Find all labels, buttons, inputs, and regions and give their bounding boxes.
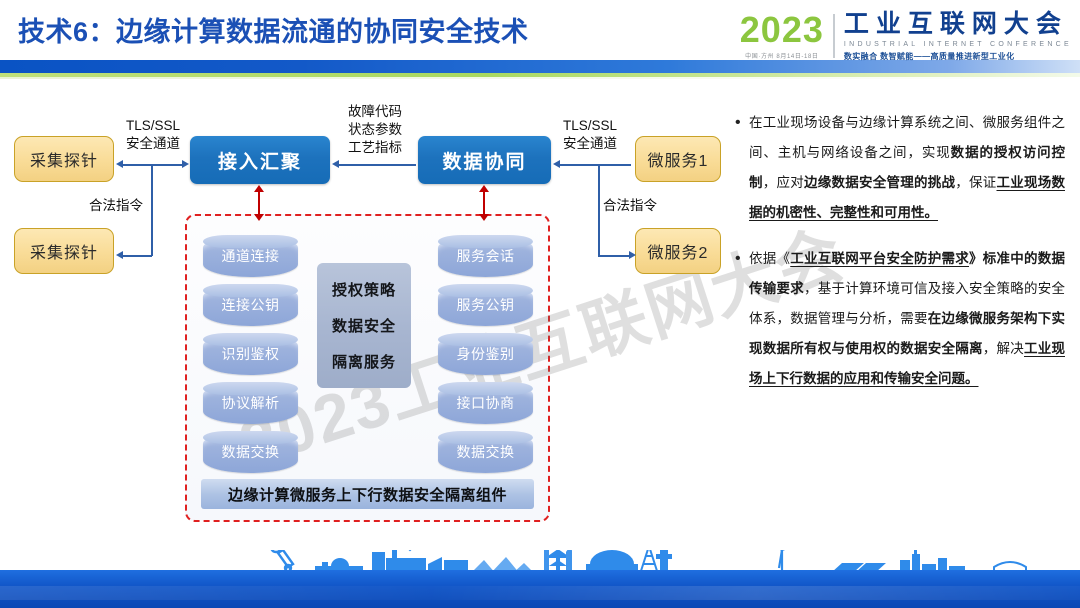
label-right-secure-channel-line2: 安全通道 [553,136,627,153]
isolation-component-bar-label: 边缘计算微服务上下行数据安全隔离组件 [228,484,507,505]
conference-logo: 2023 中国·方州 8月14日-18日 工业互联网大会 INDUSTRIAL … [740,12,1072,62]
connector-access-isolation [258,191,260,216]
connector-collab-ms1 [559,164,631,166]
cylinder-right-4[interactable]: 接口协商 [438,382,533,424]
slide: 技术6：边缘计算数据流通的协同安全技术 2023 中国·方州 8月14日-18日… [0,0,1080,608]
arrow-to-access-from-collab [332,160,339,168]
cylinder-left-5[interactable]: 数据交换 [203,431,298,473]
slide-header: 技术6：边缘计算数据流通的协同安全技术 2023 中国·方州 8月14日-18日… [0,0,1080,92]
arrow-down-isolation-left [254,214,264,221]
logo-year: 2023 [740,12,824,48]
arrow-down-isolation-right [479,214,489,221]
connector-ms2-line [598,255,631,257]
node-microservice-1-label: 微服务1 [648,147,709,171]
connector-collab-access [338,164,416,166]
cylinder-left-1-label: 通道连接 [222,246,280,266]
arrow-to-collab-from-ms1 [553,160,560,168]
cylinder-right-3-label: 身份鉴别 [457,344,515,364]
arrow-to-probe1 [116,160,123,168]
label-fault-code: 故障代码 [330,104,420,121]
node-access-aggregation-label: 接入汇聚 [218,147,302,174]
cylinder-right-2-label: 服务公钥 [457,295,515,315]
cylinder-left-5-label: 数据交换 [222,442,280,462]
center-security-services[interactable]: 授权策略 数据安全 隔离服务 [317,263,411,388]
cylinder-left-4[interactable]: 协议解析 [203,382,298,424]
isolation-component-bar[interactable]: 边缘计算微服务上下行数据安全隔离组件 [201,479,534,509]
logo-tagline: 数实融合 数智赋能——高质量推进新型工业化 [844,51,1072,62]
node-collection-probe-2-label: 采集探针 [30,239,98,263]
bullet-item-2: • 依据《工业互联网平台安全防护需求》标准中的数据传输要求，基于计算环境可信及接… [735,244,1065,394]
center-service-1: 授权策略 [332,279,396,300]
label-left-legal-command: 合法指令 [71,198,161,215]
logo-separator [833,14,835,58]
bullet-text-2: 依据《工业互联网平台安全防护需求》标准中的数据传输要求，基于计算环境可信及接入安… [749,244,1065,394]
cylinder-right-1[interactable]: 服务会话 [438,235,533,277]
cylinder-left-4-label: 协议解析 [222,393,280,413]
node-access-aggregation[interactable]: 接入汇聚 [190,136,330,184]
architecture-diagram: 2023工业互联网大会 采集探针 采集探针 接入汇聚 数据协同 微服务1 微服务… [0,96,718,526]
logo-title-en: INDUSTRIAL INTERNET CONFERENCE [844,41,1072,48]
label-process-metric: 工艺指标 [330,140,420,157]
node-data-collaboration-label: 数据协同 [442,147,526,174]
label-status-param: 状态参数 [330,122,420,139]
arrow-up-collab [479,185,489,192]
node-data-collaboration[interactable]: 数据协同 [418,136,551,184]
slide-footer [0,550,1080,608]
arrow-up-access [254,185,264,192]
node-microservice-1[interactable]: 微服务1 [635,136,721,182]
cylinder-left-3-label: 识别鉴权 [222,344,280,364]
cylinder-right-4-label: 接口协商 [457,393,515,413]
cylinder-right-5-label: 数据交换 [457,442,515,462]
cylinder-right-2[interactable]: 服务公钥 [438,284,533,326]
page-title: 技术6：边缘计算数据流通的协同安全技术 [18,10,529,49]
node-collection-probe-2[interactable]: 采集探针 [14,228,114,274]
bullet-marker-2: • [735,244,749,394]
connector-drop-ms2 [598,164,600,256]
cylinder-left-2-label: 连接公钥 [222,295,280,315]
cylinder-right-5[interactable]: 数据交换 [438,431,533,473]
cylinder-left-1[interactable]: 通道连接 [203,235,298,277]
bullet-item-1: • 在工业现场设备与边缘计算系统之间、微服务组件之间、主机与网络设备之间，实现数… [735,108,1065,228]
cylinder-right-1-label: 服务会话 [457,246,515,266]
center-service-3: 隔离服务 [332,351,396,372]
logo-year-subtitle: 中国·方州 8月14日-18日 [740,51,824,60]
node-microservice-2[interactable]: 微服务2 [635,228,721,274]
connector-collab-isolation [483,191,485,216]
arrow-to-probe2 [116,251,123,259]
bullet-marker-1: • [735,108,749,228]
node-microservice-2-label: 微服务2 [648,239,709,263]
bullet-text-1: 在工业现场设备与边缘计算系统之间、微服务组件之间、主机与网络设备之间，实现数据的… [749,108,1065,228]
label-left-secure-channel-line1: TLS/SSL [116,118,190,135]
footer-sea-sheen [0,586,1080,600]
logo-title-cn: 工业互联网大会 [844,12,1072,37]
arrow-to-access [182,160,189,168]
center-service-2: 数据安全 [332,315,396,336]
header-divider-fade [0,77,1080,79]
label-right-secure-channel-line1: TLS/SSL [553,118,627,135]
node-collection-probe-1[interactable]: 采集探针 [14,136,114,182]
cylinder-left-2[interactable]: 连接公钥 [203,284,298,326]
arrow-to-ms2 [629,251,636,259]
label-left-secure-channel-line2: 安全通道 [116,136,190,153]
connector-probe1-access [122,164,184,166]
cylinder-left-3[interactable]: 识别鉴权 [203,333,298,375]
description-panel: • 在工业现场设备与边缘计算系统之间、微服务组件之间、主机与网络设备之间，实现数… [735,108,1065,410]
connector-drop-probe2 [151,164,153,256]
node-collection-probe-1-label: 采集探针 [30,147,98,171]
connector-probe2-line [122,255,152,257]
cylinder-right-3[interactable]: 身份鉴别 [438,333,533,375]
